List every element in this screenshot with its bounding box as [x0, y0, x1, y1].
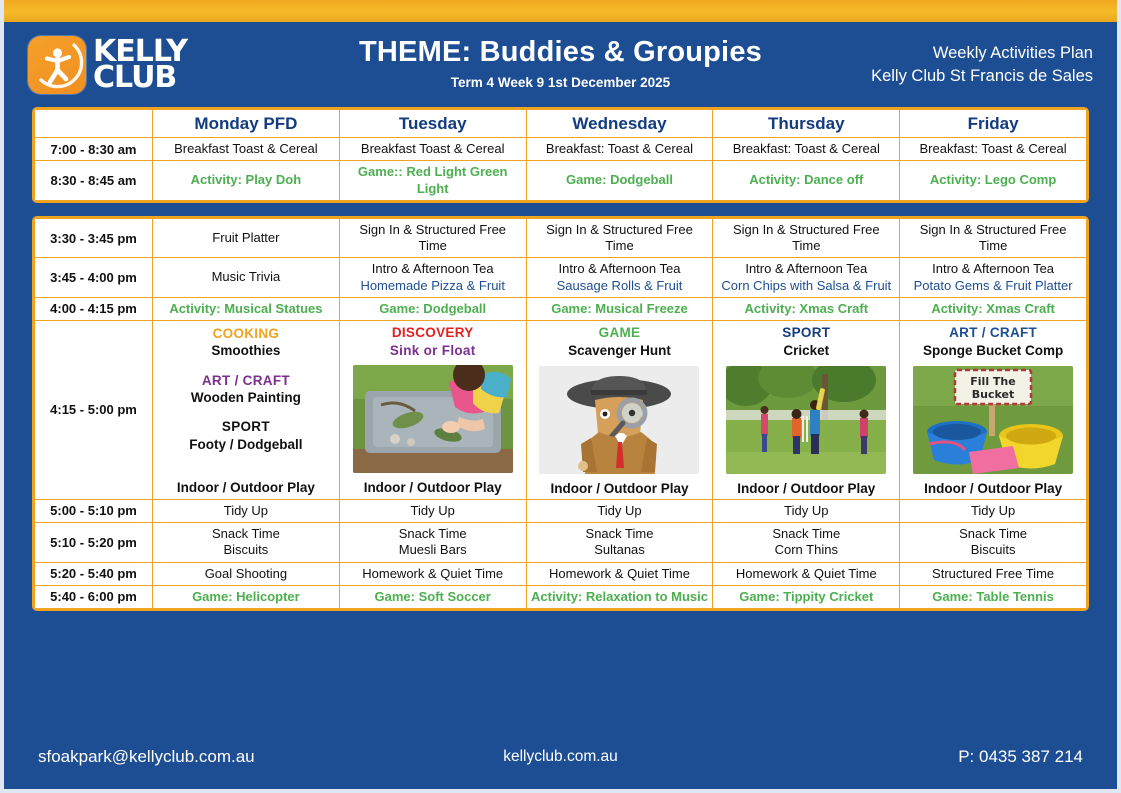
schedule-cell: Structured Free Time — [900, 562, 1087, 585]
schedule-cell: Activity: Play Doh — [153, 161, 340, 201]
schedule-cell: Snack Time Biscuits — [900, 523, 1087, 563]
schedule-cell: Sign In & Structured Free Time — [526, 218, 713, 258]
morning-table: Monday PFD Tuesday Wednesday Thursday Fr… — [34, 109, 1087, 201]
activity-title: Smoothies — [157, 342, 335, 360]
morning-session-block: Monday PFD Tuesday Wednesday Thursday Fr… — [32, 107, 1089, 203]
time-column-header — [35, 110, 153, 138]
time-label: 3:45 - 4:00 pm — [35, 258, 153, 298]
schedule-cell: Intro & Afternoon Tea Potato Gems & Frui… — [900, 258, 1087, 298]
activity-row: 4:15 - 5:00 pm COOKING Smoothies ART / C… — [35, 321, 1087, 500]
table-row: 5:40 - 6:00 pm Game: Helicopter Game: So… — [35, 585, 1087, 608]
schedule-cell: Fruit Platter — [153, 218, 340, 258]
activity-category: DISCOVERY — [344, 324, 522, 342]
cell-line-2: Corn Thins — [717, 542, 895, 558]
centre-name: Kelly Club St Francis de Sales — [793, 65, 1093, 87]
theme-subtitle: Term 4 Week 9 1st December 2025 — [328, 75, 793, 90]
schedule-cell: Breakfast Toast & Cereal — [339, 138, 526, 161]
sink-or-float-photo — [353, 365, 513, 473]
schedule-cell: Game: Musical Freeze — [526, 297, 713, 320]
schedule-cell: Homework & Quiet Time — [713, 562, 900, 585]
activity-category: SPORT — [717, 324, 895, 342]
schedule-cell: Activity: Dance off — [713, 161, 900, 201]
time-label: 7:00 - 8:30 am — [35, 138, 153, 161]
table-row: 8:30 - 8:45 am Activity: Play Doh Game::… — [35, 161, 1087, 201]
spacer — [157, 361, 335, 372]
schedule-cell: Snack Time Muesli Bars — [339, 523, 526, 563]
activities-plan-page: KELLY CLUB THEME: Buddies & Groupies Ter… — [0, 0, 1121, 793]
activity-title: Scavenger Hunt — [531, 342, 709, 360]
cell-line-1: Snack Time — [344, 526, 522, 542]
time-label: 5:40 - 6:00 pm — [35, 585, 153, 608]
activity-cell-tuesday: DISCOVERY Sink or Float — [339, 321, 526, 500]
fill-the-bucket-photo: Fill The Bucket — [913, 366, 1073, 474]
time-label: 5:20 - 5:40 pm — [35, 562, 153, 585]
time-label: 5:00 - 5:10 pm — [35, 499, 153, 522]
schedule-cell: Game:: Red Light Green Light — [339, 161, 526, 201]
cell-line-2: Biscuits — [904, 542, 1082, 558]
top-gold-bar — [4, 0, 1117, 22]
afternoon-session-block: 3:30 - 3:45 pm Fruit Platter Sign In & S… — [32, 216, 1089, 611]
footer-website[interactable]: kellyclub.com.au — [393, 748, 727, 766]
cell-line-1: Snack Time — [157, 526, 335, 542]
indoor-outdoor-label: Indoor / Outdoor Play — [904, 481, 1082, 496]
afternoon-table: 3:30 - 3:45 pm Fruit Platter Sign In & S… — [34, 218, 1087, 609]
schedule-cell: Snack Time Corn Thins — [713, 523, 900, 563]
schedule-cell: Homework & Quiet Time — [526, 562, 713, 585]
schedule-cell: Tidy Up — [526, 499, 713, 522]
cell-line-2: Sultanas — [531, 542, 709, 558]
cell-line-1: Intro & Afternoon Tea — [717, 261, 895, 277]
svg-text:Bucket: Bucket — [972, 388, 1014, 401]
header-center: THEME: Buddies & Groupies Term 4 Week 9 … — [328, 36, 793, 90]
kelly-club-wordmark: KELLY CLUB — [93, 39, 187, 91]
cell-line-2: Potato Gems & Fruit Platter — [904, 278, 1082, 294]
cell-line-1: Snack Time — [904, 526, 1082, 542]
schedule-cell: Sign In & Structured Free Time — [713, 218, 900, 258]
schedule-cell: Game: Tippity Cricket — [713, 585, 900, 608]
activity-cell-monday: COOKING Smoothies ART / CRAFT Wooden Pai… — [153, 321, 340, 500]
schedule-cell: Activity: Xmas Craft — [713, 297, 900, 320]
activity-category: COOKING — [157, 325, 335, 343]
schedule-cell: Sign In & Structured Free Time — [339, 218, 526, 258]
cell-line-1: Intro & Afternoon Tea — [531, 261, 709, 277]
table-row: 3:45 - 4:00 pm Music Trivia Intro & Afte… — [35, 258, 1087, 298]
activity-title: Sink or Float — [344, 342, 522, 360]
activity-title: Cricket — [717, 342, 895, 360]
schedule-cell: Game: Soft Soccer — [339, 585, 526, 608]
schedule-cell: Game: Dodgeball — [339, 297, 526, 320]
cell-line-1: Intro & Afternoon Tea — [344, 261, 522, 277]
table-row: 4:00 - 4:15 pm Activity: Musical Statues… — [35, 297, 1087, 320]
spacer — [157, 407, 335, 418]
schedule-cell: Breakfast: Toast & Cereal — [526, 138, 713, 161]
schedule-cell: Homework & Quiet Time — [339, 562, 526, 585]
day-header-tuesday: Tuesday — [339, 110, 526, 138]
page-footer: sfoakpark@kellyclub.com.au kellyclub.com… — [4, 725, 1117, 789]
header-right: Weekly Activities Plan Kelly Club St Fra… — [793, 42, 1093, 87]
indoor-outdoor-label: Indoor / Outdoor Play — [344, 480, 522, 495]
footer-email[interactable]: sfoakpark@kellyclub.com.au — [38, 747, 393, 767]
cell-line-1: Snack Time — [531, 526, 709, 542]
indoor-outdoor-label: Indoor / Outdoor Play — [157, 480, 335, 495]
cell-line-2: Biscuits — [157, 542, 335, 558]
schedule-cell: Activity: Xmas Craft — [900, 297, 1087, 320]
cell-line-2: Sausage Rolls & Fruit — [531, 278, 709, 294]
schedule-cell: Activity: Musical Statues — [153, 297, 340, 320]
schedule-cell: Activity: Lego Comp — [900, 161, 1087, 201]
day-header-wednesday: Wednesday — [526, 110, 713, 138]
activity-title: Footy / Dodgeball — [157, 436, 335, 454]
logo-line-2: CLUB — [93, 65, 187, 91]
schedule-cell: Snack Time Sultanas — [526, 523, 713, 563]
time-label: 3:30 - 3:45 pm — [35, 218, 153, 258]
activity-cell-wednesday: GAME Scavenger Hunt — [526, 321, 713, 500]
schedule-cell: Goal Shooting — [153, 562, 340, 585]
schedule-cell: Game: Dodgeball — [526, 161, 713, 201]
activity-title: Sponge Bucket Comp — [904, 342, 1082, 360]
indoor-outdoor-label: Indoor / Outdoor Play — [531, 481, 709, 496]
schedule-sheet: Monday PFD Tuesday Wednesday Thursday Fr… — [4, 107, 1117, 611]
time-label: 4:15 - 5:00 pm — [35, 321, 153, 500]
page-header: KELLY CLUB THEME: Buddies & Groupies Ter… — [4, 22, 1117, 107]
schedule-cell: Breakfast: Toast & Cereal — [713, 138, 900, 161]
schedule-cell: Music Trivia — [153, 258, 340, 298]
schedule-cell: Sign In & Structured Free Time — [900, 218, 1087, 258]
table-row: 5:10 - 5:20 pm Snack Time Biscuits Snack… — [35, 523, 1087, 563]
schedule-cell: Tidy Up — [339, 499, 526, 522]
kelly-club-logo-icon — [28, 36, 86, 94]
schedule-cell: Intro & Afternoon Tea Sausage Rolls & Fr… — [526, 258, 713, 298]
plan-label: Weekly Activities Plan — [793, 42, 1093, 64]
schedule-cell: Snack Time Biscuits — [153, 523, 340, 563]
schedule-cell: Intro & Afternoon Tea Homemade Pizza & F… — [339, 258, 526, 298]
table-row: 3:30 - 3:45 pm Fruit Platter Sign In & S… — [35, 218, 1087, 258]
cell-line-2: Corn Chips with Salsa & Fruit — [717, 278, 895, 294]
day-header-row: Monday PFD Tuesday Wednesday Thursday Fr… — [35, 110, 1087, 138]
day-header-monday: Monday PFD — [153, 110, 340, 138]
table-row: 5:20 - 5:40 pm Goal Shooting Homework & … — [35, 562, 1087, 585]
time-label: 5:10 - 5:20 pm — [35, 523, 153, 563]
schedule-cell: Breakfast Toast & Cereal — [153, 138, 340, 161]
table-row: 7:00 - 8:30 am Breakfast Toast & Cereal … — [35, 138, 1087, 161]
activity-cell-friday: ART / CRAFT Sponge Bucket Comp Fill The … — [900, 321, 1087, 500]
schedule-cell: Game: Table Tennis — [900, 585, 1087, 608]
schedule-cell: Intro & Afternoon Tea Corn Chips with Sa… — [713, 258, 900, 298]
activity-cell-thursday: SPORT Cricket — [713, 321, 900, 500]
activity-category: SPORT — [157, 418, 335, 436]
spacer — [157, 454, 335, 480]
cell-line-2: Muesli Bars — [344, 542, 522, 558]
activity-category: ART / CRAFT — [904, 324, 1082, 342]
activity-category: GAME — [531, 324, 709, 342]
schedule-cell: Tidy Up — [900, 499, 1087, 522]
schedule-cell: Game: Helicopter — [153, 585, 340, 608]
cell-line-1: Music Trivia — [157, 269, 335, 285]
time-label: 8:30 - 8:45 am — [35, 161, 153, 201]
activity-category: ART / CRAFT — [157, 372, 335, 390]
theme-title: THEME: Buddies & Groupies — [328, 36, 793, 69]
schedule-cell: Tidy Up — [153, 499, 340, 522]
activity-title: Wooden Painting — [157, 389, 335, 407]
kelly-club-logo: KELLY CLUB — [28, 36, 328, 94]
schedule-cell: Breakfast: Toast & Cereal — [900, 138, 1087, 161]
time-label: 4:00 - 4:15 pm — [35, 297, 153, 320]
schedule-cell: Tidy Up — [713, 499, 900, 522]
day-header-thursday: Thursday — [713, 110, 900, 138]
schedule-cell: Activity: Relaxation to Music — [526, 585, 713, 608]
table-row: 5:00 - 5:10 pm Tidy Up Tidy Up Tidy Up T… — [35, 499, 1087, 522]
footer-phone: P: 0435 387 214 — [728, 747, 1083, 767]
indoor-outdoor-label: Indoor / Outdoor Play — [717, 481, 895, 496]
cell-line-1: Intro & Afternoon Tea — [904, 261, 1082, 277]
cell-line-1: Snack Time — [717, 526, 895, 542]
svg-text:Fill The: Fill The — [970, 375, 1015, 388]
cell-line-2: Homemade Pizza & Fruit — [344, 278, 522, 294]
cricket-photo — [726, 366, 886, 474]
scavenger-hunt-detective-illustration — [539, 366, 699, 474]
day-header-friday: Friday — [900, 110, 1087, 138]
